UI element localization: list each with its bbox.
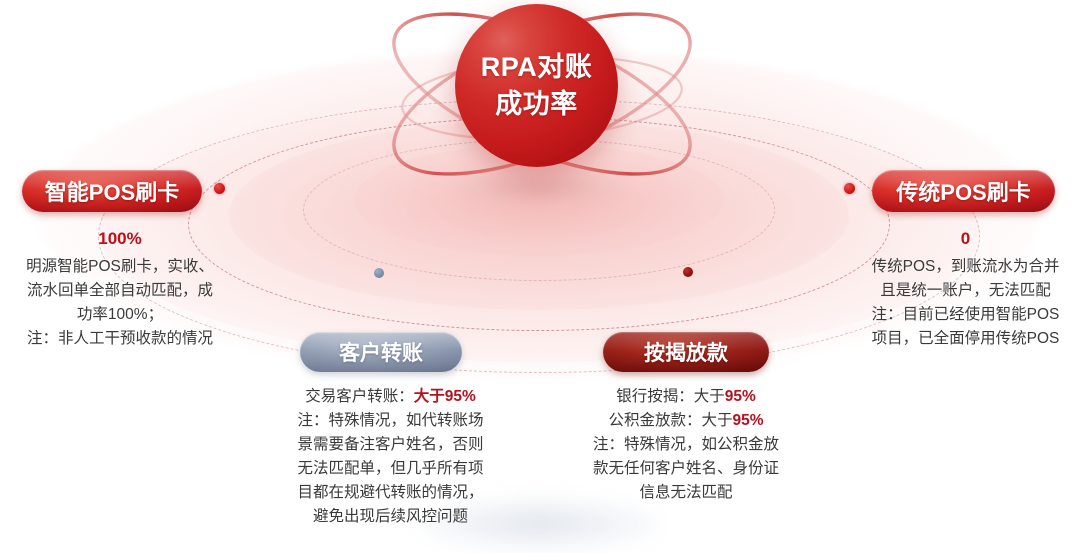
panel-text-line: 流水回单全部自动匹配，成: [0, 279, 240, 303]
panel-customer-transfer-body: 交易客户转账：大于95%注：特殊情况，如代转账场景需要备注客户姓名，否则无法匹配…: [253, 385, 528, 529]
panel-text-line: 明源智能POS刷卡，实收、: [0, 255, 240, 279]
panel-text-run: 交易客户转账：: [305, 388, 414, 405]
panel-traditional-pos-headline: 0: [854, 226, 1077, 252]
panel-text-line: 公积金放款：大于95%: [556, 409, 816, 433]
pill-traditional-pos-label: 传统POS刷卡: [896, 175, 1030, 207]
panel-text-run: 目都在规避代转账的情况，: [297, 484, 483, 501]
panel-text-line: 目都在规避代转账的情况，: [253, 481, 528, 505]
panel-customer-transfer: 交易客户转账：大于95%注：特殊情况，如代转账场景需要备注客户姓名，否则无法匹配…: [253, 385, 528, 529]
pill-mortgage-loan[interactable]: 按揭放款: [603, 332, 769, 372]
panel-text-line: 无法匹配单，但几乎所有项: [253, 457, 528, 481]
center-title-line1: RPA对账: [481, 49, 593, 85]
panel-text-line: 注：非人工干预收款的情况: [0, 327, 240, 351]
panel-text-line: 且是统一账户，无法匹配: [854, 279, 1077, 303]
panel-text-highlight: 95%: [732, 412, 763, 429]
panel-text-line: 交易客户转账：大于95%: [253, 385, 528, 409]
panel-text-line: 功率100%；: [0, 303, 240, 327]
center-sphere: RPA对账 成功率: [455, 4, 618, 167]
panel-text-highlight: 大于95%: [414, 388, 476, 405]
panel-smart-pos-headline: 100%: [0, 226, 240, 252]
panel-smart-pos: 100% 明源智能POS刷卡，实收、流水回单全部自动匹配，成功率100%；注：非…: [0, 226, 240, 351]
panel-text-run: 注：特殊情况，如公积金放: [593, 436, 779, 453]
panel-text-run: 注：特殊情况，如代转账场: [297, 412, 483, 429]
sphere-drop-shadow: [454, 171, 624, 205]
pill-smart-pos-label: 智能POS刷卡: [45, 175, 179, 207]
panel-text-run: 款无任何客户姓名、身份证: [593, 460, 779, 477]
panel-text-run: 公积金放款：大于: [608, 412, 732, 429]
panel-text-line: 信息无法匹配: [556, 481, 816, 505]
orbit-dot-right-dark: [683, 267, 693, 277]
panel-text-line: 传统POS，到账流水为合并: [854, 255, 1077, 279]
panel-traditional-pos: 0 传统POS，到账流水为合并且是统一账户，无法匹配注：目前已经使用智能POS项…: [854, 226, 1077, 351]
center-title-line2: 成功率: [495, 86, 578, 122]
pill-traditional-pos[interactable]: 传统POS刷卡: [872, 170, 1055, 212]
orbit-dot-left-red: [214, 183, 225, 194]
panel-text-run: 银行按揭：大于: [616, 388, 725, 405]
panel-text-line: 银行按揭：大于95%: [556, 385, 816, 409]
panel-smart-pos-body: 明源智能POS刷卡，实收、流水回单全部自动匹配，成功率100%；注：非人工干预收…: [0, 255, 240, 351]
orbit-dot-left-blue: [374, 268, 384, 278]
panel-text-run: 避免出现后续风控问题: [313, 508, 468, 525]
orbit-dot-right-red: [844, 183, 855, 194]
panel-text-line: 景需要备注客户姓名，否则: [253, 433, 528, 457]
panel-text-highlight: 95%: [725, 388, 756, 405]
panel-text-line: 项目，已全面停用传统POS: [854, 327, 1077, 351]
panel-mortgage-loan-body: 银行按揭：大于95%公积金放款：大于95%注：特殊情况，如公积金放款无任何客户姓…: [556, 385, 816, 505]
panel-text-line: 款无任何客户姓名、身份证: [556, 457, 816, 481]
pill-smart-pos[interactable]: 智能POS刷卡: [22, 170, 202, 212]
panel-text-line: 注：特殊情况，如公积金放: [556, 433, 816, 457]
pill-customer-transfer-label: 客户转账: [339, 337, 423, 367]
panel-text-line: 注：特殊情况，如代转账场: [253, 409, 528, 433]
pill-mortgage-loan-label: 按揭放款: [644, 337, 728, 367]
panel-traditional-pos-body: 传统POS，到账流水为合并且是统一账户，无法匹配注：目前已经使用智能POS项目，…: [854, 255, 1077, 351]
infographic-canvas: RPA对账 成功率 智能POS刷卡 传统POS刷卡 客户转账 按揭放款 100%…: [0, 0, 1077, 553]
panel-text-run: 信息无法匹配: [639, 484, 732, 501]
panel-text-run: 景需要备注客户姓名，否则: [297, 436, 483, 453]
panel-mortgage-loan: 银行按揭：大于95%公积金放款：大于95%注：特殊情况，如公积金放款无任何客户姓…: [556, 385, 816, 505]
panel-text-run: 无法匹配单，但几乎所有项: [297, 460, 483, 477]
panel-text-line: 注：目前已经使用智能POS: [854, 303, 1077, 327]
pill-customer-transfer[interactable]: 客户转账: [300, 332, 462, 372]
panel-text-line: 避免出现后续风控问题: [253, 505, 528, 529]
